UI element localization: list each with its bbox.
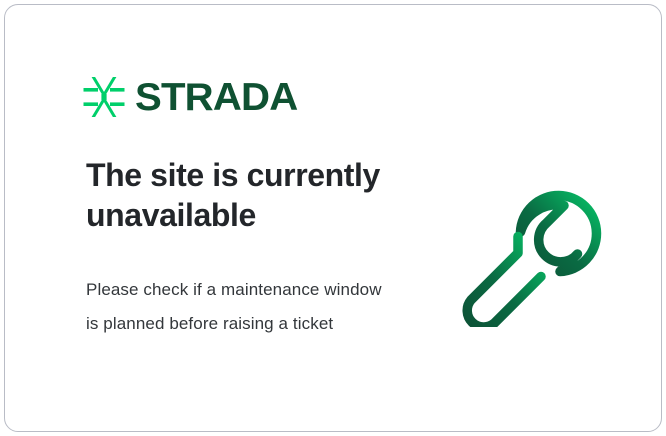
- wrench-icon: [457, 157, 623, 327]
- page-title: The site is currently unavailable: [86, 156, 416, 235]
- status-card: STRADA The site is currently unavailable…: [4, 4, 662, 432]
- strada-asterisk-icon: [82, 75, 126, 119]
- error-page: STRADA The site is currently unavailable…: [0, 0, 666, 436]
- brand-logo: STRADA: [82, 75, 293, 119]
- brand-wordmark: STRADA: [135, 78, 297, 117]
- page-description: Please check if a maintenance window is …: [86, 273, 396, 341]
